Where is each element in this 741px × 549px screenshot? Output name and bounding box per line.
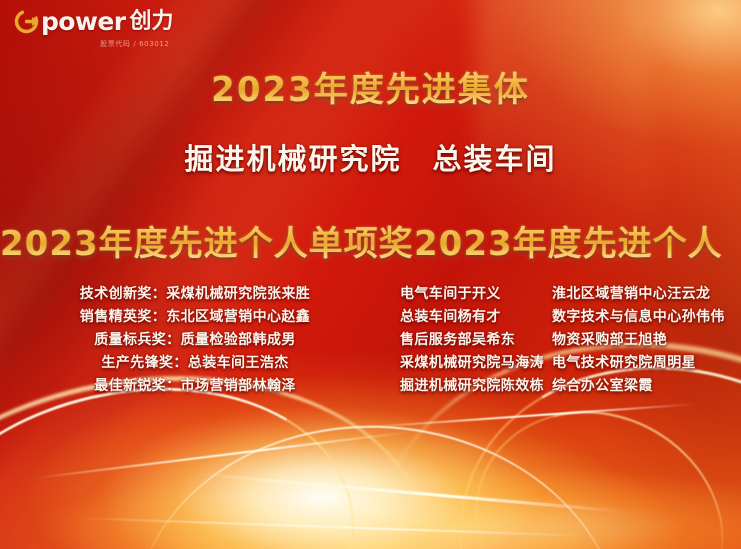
winner-name: 电气车间于开义 <box>400 285 552 305</box>
winner-name: 综合办公室梁霞 <box>552 377 741 397</box>
c-power-ring-icon <box>14 9 39 34</box>
list-item: 采煤机械研究院马海涛 电气技术研究院周明星 <box>400 354 741 374</box>
winner-name: 总装车间杨有才 <box>400 308 552 328</box>
list-item: 销售精英奖：东北区域营销中心赵鑫 <box>80 308 310 328</box>
list-item: 质量标兵奖：质量检验部韩成男 <box>94 331 296 351</box>
logo-wordmark-cn: 创力 <box>129 11 173 33</box>
winner-name: 物资采购部王旭艳 <box>552 331 741 351</box>
list-item: 总装车间杨有才 数字技术与信息中心孙伟伟 <box>400 308 741 328</box>
list-item: 技术创新奖：采煤机械研究院张来胜 <box>80 285 310 305</box>
winner-name: 掘进机械研究院陈效栋 <box>400 377 552 397</box>
award-slide: power 创力 股票代码 / 603012 2023年度先进集体 掘进机械研究… <box>0 0 741 549</box>
section-header-individual-awards: 2023年度先进个人单项奖 <box>0 216 414 265</box>
list-item: 生产先锋奖：总装车间王浩杰 <box>101 354 288 374</box>
collective-winners: 掘进机械研究院 总装车间 <box>0 136 741 178</box>
individual-awards-list: 技术创新奖：采煤机械研究院张来胜 销售精英奖：东北区域营销中心赵鑫 质量标兵奖：… <box>0 285 390 396</box>
winner-name: 采煤机械研究院马海涛 <box>400 354 552 374</box>
winner-name: 电气技术研究院周明星 <box>552 354 741 374</box>
list-item: 最佳新锐奖：市场营销部林翰泽 <box>94 377 296 397</box>
section-header-advanced-individuals: 2023年度先进个人 <box>414 216 741 265</box>
winner-name: 淮北区域营销中心汪云龙 <box>552 285 741 305</box>
list-item: 掘进机械研究院陈效栋 综合办公室梁霞 <box>400 377 741 397</box>
company-logo: power 创力 股票代码 / 603012 <box>14 9 173 49</box>
logo-wordmark: power <box>41 9 125 34</box>
advanced-individuals-list: 电气车间于开义 淮北区域营销中心汪云龙 总装车间杨有才 数字技术与信息中心孙伟伟… <box>390 285 741 396</box>
winner-lists: 技术创新奖：采煤机械研究院张来胜 销售精英奖：东北区域营销中心赵鑫 质量标兵奖：… <box>0 285 741 396</box>
section-headers: 2023年度先进个人单项奖 2023年度先进个人 <box>0 216 741 265</box>
list-item: 电气车间于开义 淮北区域营销中心汪云龙 <box>400 285 741 305</box>
stock-code-label: 股票代码 / 603012 <box>100 39 173 49</box>
list-item: 售后服务部吴希东 物资采购部王旭艳 <box>400 331 741 351</box>
winner-name: 数字技术与信息中心孙伟伟 <box>552 308 741 328</box>
logo-row: power 创力 <box>14 9 173 34</box>
main-title: 2023年度先进集体 <box>0 62 741 111</box>
winner-name: 售后服务部吴希东 <box>400 331 552 351</box>
